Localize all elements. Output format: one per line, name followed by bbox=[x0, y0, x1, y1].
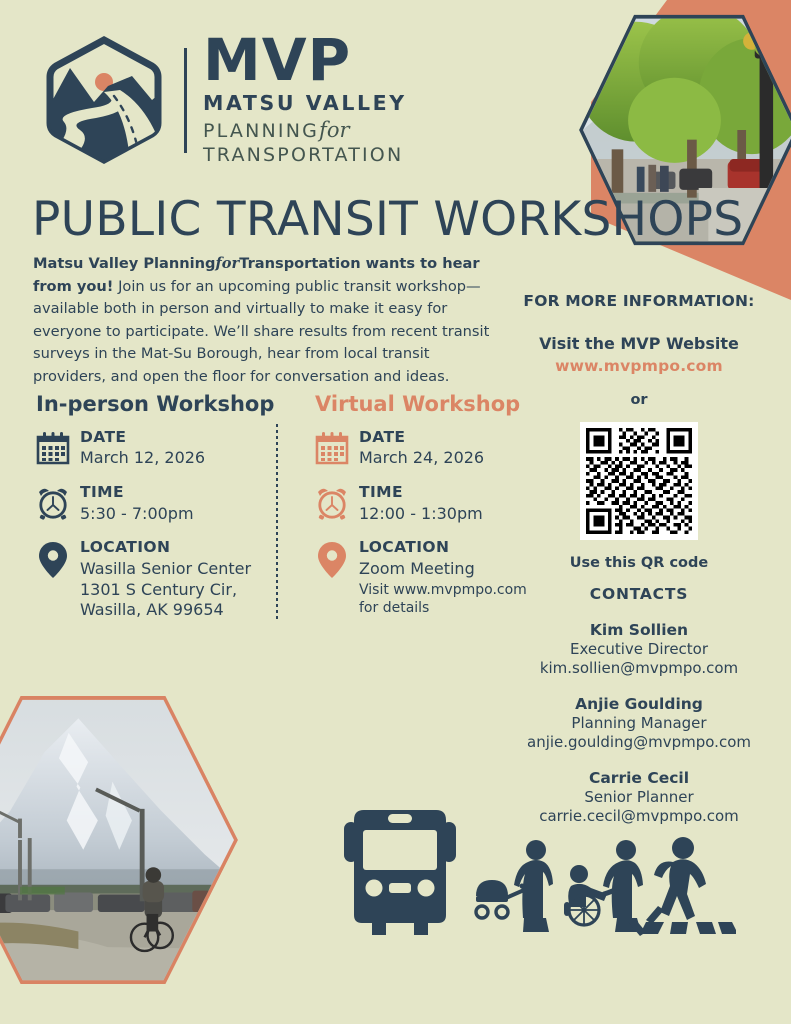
intro-bold-lead: Matsu Valley Planning bbox=[33, 255, 216, 272]
in-person-location-value: Wasilla Senior Center 1301 S Century Cir… bbox=[80, 559, 276, 621]
intro-bold-italic-for: for bbox=[216, 255, 240, 272]
column-divider bbox=[276, 424, 278, 620]
bus-front-icon bbox=[344, 810, 456, 935]
contact-name: Anjie Goulding bbox=[500, 695, 778, 713]
qr-code[interactable] bbox=[580, 422, 698, 540]
contact-role: Executive Director bbox=[500, 640, 778, 658]
intro-paragraph: Matsu Valley PlanningforTransportation w… bbox=[33, 253, 503, 389]
contact-role: Planning Manager bbox=[500, 714, 778, 732]
alarm-clock-icon bbox=[315, 483, 359, 520]
contact-item: Kim Sollien Executive Director kim.solli… bbox=[500, 621, 778, 677]
logo-wordmark: MVP MATSU VALLEY PLANNINGfor TRANSPORTAT… bbox=[203, 34, 407, 166]
in-person-date-value: March 12, 2026 bbox=[80, 448, 276, 469]
in-person-date-row: DATE March 12, 2026 bbox=[36, 428, 276, 469]
more-information-title: FOR MORE INFORMATION: bbox=[500, 292, 778, 310]
logo-planning-word: PLANNING bbox=[203, 120, 319, 142]
contacts-block: CONTACTS Kim Sollien Executive Director … bbox=[500, 585, 778, 825]
wheelchair-attendant-icon bbox=[564, 840, 646, 936]
cyclist-photo-hexagon bbox=[0, 690, 238, 990]
logo-line-matsu-valley: MATSU VALLEY bbox=[203, 91, 407, 115]
in-person-time-label: TIME bbox=[80, 483, 276, 502]
flyer-page: MVP MATSU VALLEY PLANNINGfor TRANSPORTAT… bbox=[0, 0, 791, 1024]
contact-email[interactable]: anjie.goulding@mvpmpo.com bbox=[500, 733, 778, 751]
in-person-time-row: TIME 5:30 - 7:00pm bbox=[36, 483, 276, 524]
visit-website-text: Visit the MVP Website bbox=[500, 334, 778, 353]
in-person-time-value: 5:30 - 7:00pm bbox=[80, 504, 276, 525]
contact-name: Kim Sollien bbox=[500, 621, 778, 639]
mvp-hexagon-logo-mark-icon bbox=[34, 30, 174, 170]
map-pin-icon bbox=[315, 538, 359, 579]
map-pin-icon bbox=[36, 538, 80, 579]
contact-item: Anjie Goulding Planning Manager anjie.go… bbox=[500, 695, 778, 751]
contact-role: Senior Planner bbox=[500, 788, 778, 806]
in-person-time-body: TIME 5:30 - 7:00pm bbox=[80, 483, 276, 524]
contact-name: Carrie Cecil bbox=[500, 769, 778, 787]
mvp-logo: MVP MATSU VALLEY PLANNINGfor TRANSPORTAT… bbox=[34, 30, 407, 170]
logo-line-planning-for: PLANNINGfor bbox=[203, 118, 407, 142]
more-information-block: FOR MORE INFORMATION: Visit the MVP Webs… bbox=[500, 292, 778, 571]
calendar-icon bbox=[36, 428, 80, 465]
in-person-workshop-block: In-person Workshop DATE March 12, 2026 bbox=[36, 392, 276, 635]
cyclist-mountain-photo bbox=[0, 694, 234, 986]
contacts-title: CONTACTS bbox=[500, 585, 778, 603]
website-url-link[interactable]: www.mvpmpo.com bbox=[500, 357, 778, 375]
logo-acronym: MVP bbox=[203, 34, 407, 87]
logo-line-transportation: TRANSPORTATION bbox=[203, 144, 407, 166]
contact-email[interactable]: kim.sollien@mvpmpo.com bbox=[500, 659, 778, 677]
in-person-date-label: DATE bbox=[80, 428, 276, 447]
transit-icon-band bbox=[336, 808, 736, 952]
in-person-location-body: LOCATION Wasilla Senior Center 1301 S Ce… bbox=[80, 538, 276, 621]
in-person-location-label: LOCATION bbox=[80, 538, 276, 557]
calendar-icon bbox=[315, 428, 359, 465]
or-separator-text: or bbox=[500, 392, 778, 408]
in-person-location-row: LOCATION Wasilla Senior Center 1301 S Ce… bbox=[36, 538, 276, 621]
logo-for-word: for bbox=[319, 118, 349, 142]
page-title: PUBLIC TRANSIT WORKSHOPS bbox=[32, 192, 743, 247]
logo-divider-rule bbox=[184, 48, 187, 153]
in-person-date-body: DATE March 12, 2026 bbox=[80, 428, 276, 469]
crosswalk-pedestrian-icon bbox=[640, 837, 736, 934]
qr-code-caption: Use this QR code bbox=[500, 555, 778, 571]
stroller-pedestrian-icon bbox=[476, 840, 553, 932]
alarm-clock-icon bbox=[36, 483, 80, 520]
in-person-workshop-heading: In-person Workshop bbox=[36, 392, 276, 416]
